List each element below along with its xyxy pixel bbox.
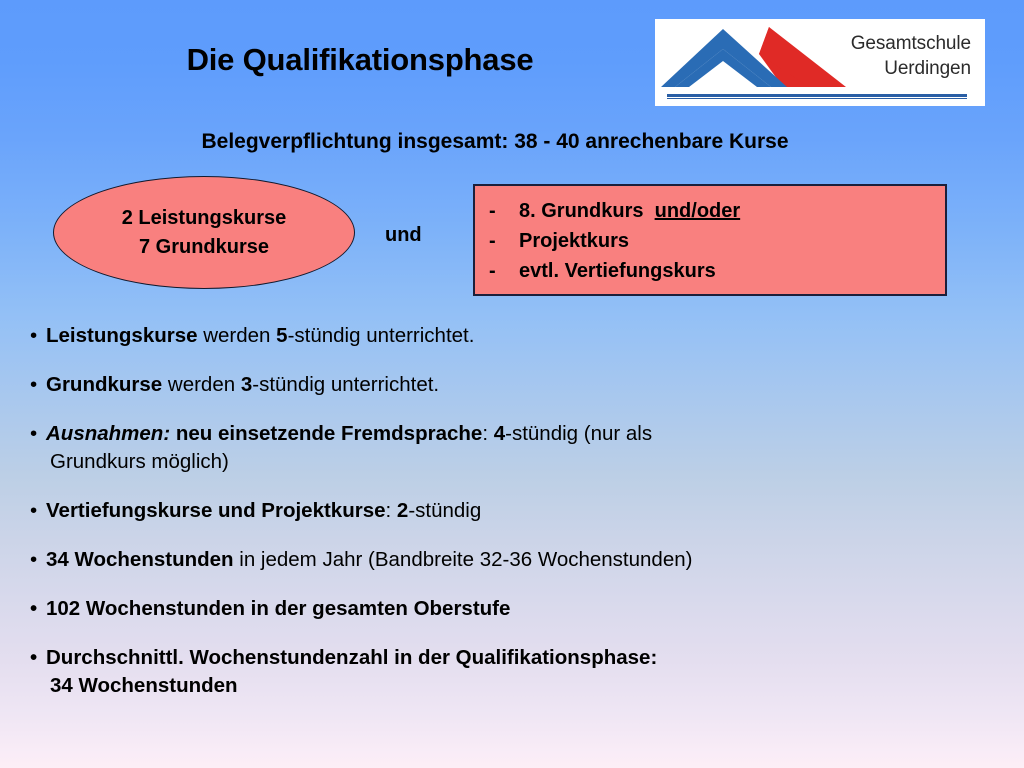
list-item-text: -stündig unterrichtet. xyxy=(288,324,475,347)
list-item-text: 4 xyxy=(494,422,505,445)
bullet-list: Leistungskurse werden 5-stündig unterric… xyxy=(30,322,990,721)
options-box-item: -evtl. Vertiefungskurs xyxy=(489,256,945,286)
list-item-text: : xyxy=(386,499,397,522)
list-item: Ausnahmen: neu einsetzende Fremdsprache:… xyxy=(30,420,990,476)
list-item-text: 2 xyxy=(397,499,408,522)
list-item-text: neu einsetzende Fremdsprache xyxy=(170,422,482,445)
list-item: Grundkurse werden 3-stündig unterrichtet… xyxy=(30,371,990,399)
list-item-text: werden xyxy=(162,373,241,396)
list-item-text: 3 xyxy=(241,373,252,396)
list-item-text: 102 Wochenstunden in der gesamten Oberst… xyxy=(46,597,510,620)
school-logo-line2: Uerdingen xyxy=(811,56,971,81)
list-item-text: werden xyxy=(198,324,277,347)
options-box-item: -Projektkurs xyxy=(489,226,945,256)
list-item-text: Leistungskurse xyxy=(46,324,198,347)
list-item-text: Vertiefungskurse und Projektkurse xyxy=(46,499,386,522)
dash-marker: - xyxy=(489,256,519,286)
options-box: -8. Grundkurs und/oder -Projektkurs -evt… xyxy=(473,184,947,296)
course-count-ellipse: 2 Leistungskurse 7 Grundkurse xyxy=(53,176,355,289)
list-item: 34 Wochenstunden in jedem Jahr (Bandbrei… xyxy=(30,546,990,574)
list-item-text: Grundkurs möglich) xyxy=(46,448,990,476)
page-title: Die Qualifikationsphase xyxy=(60,42,660,78)
list-item: Durchschnittl. Wochenstundenzahl in der … xyxy=(30,644,990,700)
list-item-text: Durchschnittl. Wochenstundenzahl in der … xyxy=(46,646,657,669)
options-box-item-underlined: und/oder xyxy=(655,200,741,222)
list-item-text: in jedem Jahr (Bandbreite 32-36 Wochenst… xyxy=(234,548,693,571)
logo-underline-rule xyxy=(667,94,967,97)
list-item-text: 34 Wochenstunden xyxy=(46,548,234,571)
school-logo-text: Gesamtschule Uerdingen xyxy=(811,31,971,81)
list-item-text: -stündig unterrichtet. xyxy=(252,373,439,396)
dash-marker: - xyxy=(489,226,519,256)
slide-canvas: Die Qualifikationsphase Gesamtschule Uer… xyxy=(0,0,1024,768)
options-box-item-text: evtl. Vertiefungskurs xyxy=(519,260,716,282)
school-logo-line1: Gesamtschule xyxy=(811,31,971,56)
dash-marker: - xyxy=(489,196,519,226)
subtitle: Belegverpflichtung insgesamt: 38 - 40 an… xyxy=(0,130,990,154)
list-item: Leistungskurse werden 5-stündig unterric… xyxy=(30,322,990,350)
connector-label: und xyxy=(385,224,422,247)
list-item-text: Ausnahmen: xyxy=(46,422,170,445)
list-item-text: 5 xyxy=(276,324,287,347)
list-item-text: : xyxy=(482,422,493,445)
school-logo: Gesamtschule Uerdingen xyxy=(655,19,985,106)
list-item-text: -stündig xyxy=(408,499,481,522)
list-item: 102 Wochenstunden in der gesamten Oberst… xyxy=(30,595,990,623)
list-item-text: -stündig (nur als xyxy=(505,422,652,445)
options-box-item-text: Projektkurs xyxy=(519,230,629,252)
options-box-item: -8. Grundkurs und/oder xyxy=(489,196,945,226)
ellipse-line1: 2 Leistungskurse xyxy=(122,204,287,233)
list-item-text: 34 Wochenstunden xyxy=(46,672,990,700)
list-item: Vertiefungskurse und Projektkurse: 2-stü… xyxy=(30,497,990,525)
list-item-text: Grundkurse xyxy=(46,373,162,396)
ellipse-line2: 7 Grundkurse xyxy=(139,233,269,262)
options-box-item-text: 8. Grundkurs xyxy=(519,200,643,222)
